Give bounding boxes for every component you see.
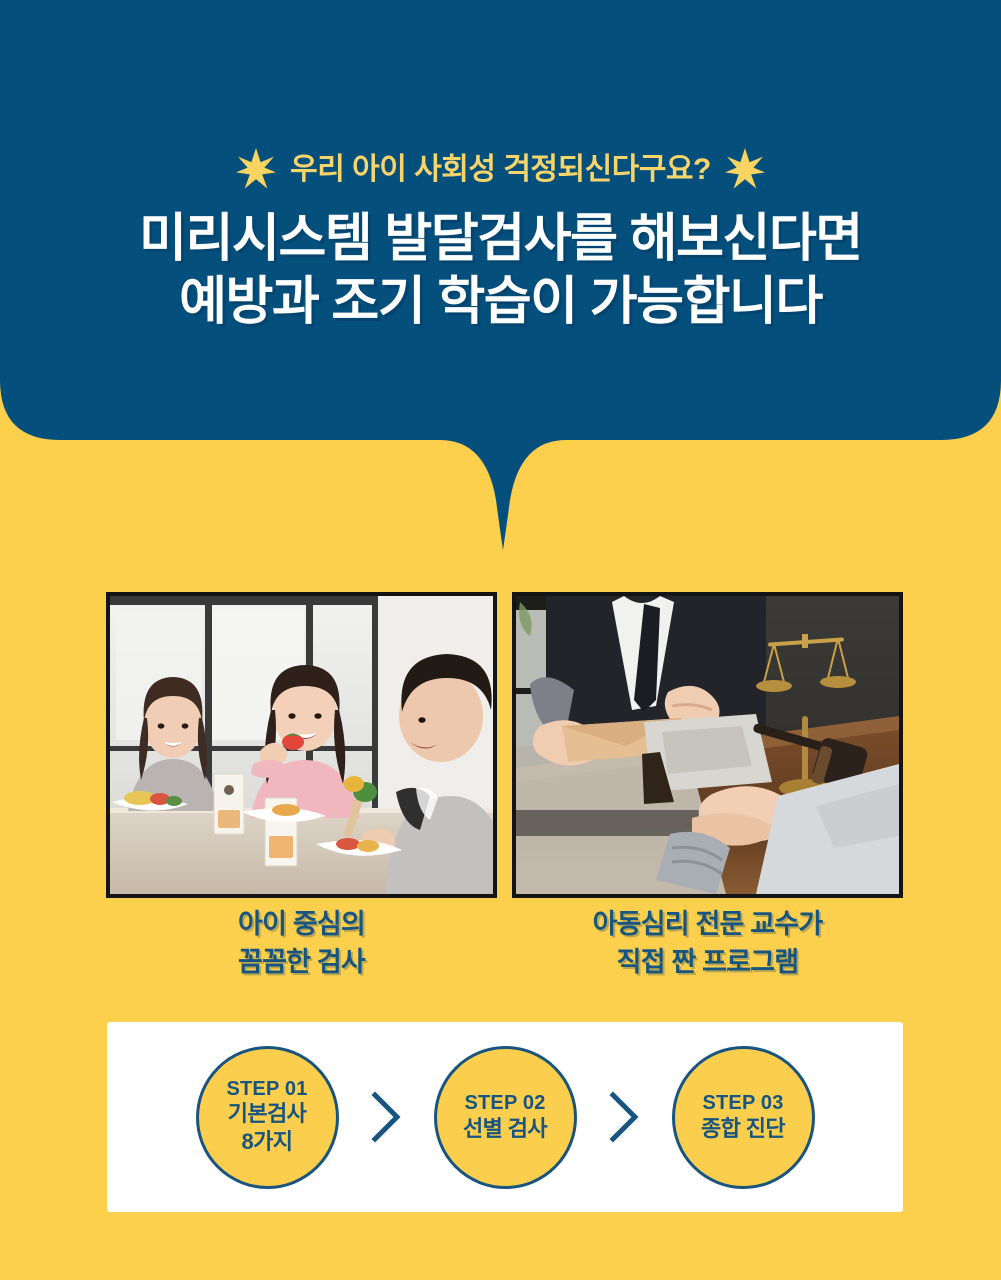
- hero-headline-line-2: 예방과 조기 학습이 가능합니다: [179, 271, 822, 334]
- caption-consultation-line-1: 아동심리 전문 교수가: [512, 906, 903, 944]
- photo-card-children: [106, 592, 497, 898]
- caption-children-line-1: 아이 중심의: [106, 906, 497, 944]
- caption-children-line-2: 꼼꼼한 검사: [106, 944, 497, 982]
- step-01-name: 기본검사: [228, 1101, 307, 1128]
- hero-headline-line-1: 미리시스템 발달검사를 해보신다면: [139, 208, 862, 271]
- step-02-label: STEP 02: [464, 1091, 545, 1115]
- photo-consultation-image: [516, 596, 899, 894]
- consultation-illustration: [516, 596, 899, 894]
- step-01-sub: 8가지: [242, 1128, 293, 1157]
- caption-consultation: 아동심리 전문 교수가 직접 짠 프로그램: [512, 906, 903, 1002]
- steps-row: STEP 01 기본검사 8가지 STEP 02 선별 검사 STEP 03: [196, 1046, 815, 1189]
- chevron-right-glyph: [369, 1091, 403, 1143]
- caption-children: 아이 중심의 꼼꼼한 검사: [106, 906, 497, 1002]
- photo-gallery: [106, 592, 903, 898]
- promo-page: 우리 아이 사회성 걱정되신다구요? 미리시스템 발달검사를 해보신다면 예방과…: [0, 0, 1001, 1280]
- step-circle-02[interactable]: STEP 02 선별 검사: [434, 1046, 577, 1189]
- sparkle-star-icon: [236, 148, 276, 192]
- photo-captions: 아이 중심의 꼼꼼한 검사 아동심리 전문 교수가 직접 짠 프로그램: [106, 906, 903, 1002]
- children-eating-illustration: [110, 596, 493, 894]
- chevron-right-icon: [577, 1091, 672, 1143]
- photo-card-consultation: [512, 592, 903, 898]
- step-circle-01[interactable]: STEP 01 기본검사 8가지: [196, 1046, 339, 1189]
- step-03-label: STEP 03: [702, 1091, 783, 1115]
- hero-eyebrow-row: 우리 아이 사회성 걱정되신다구요?: [236, 148, 765, 192]
- photo-children-image: [110, 596, 493, 894]
- hero-content: 우리 아이 사회성 걱정되신다구요? 미리시스템 발달검사를 해보신다면 예방과…: [0, 0, 1001, 440]
- step-02-name: 선별 검사: [463, 1116, 547, 1143]
- hero-eyebrow-text: 우리 아이 사회성 걱정되신다구요?: [290, 155, 711, 185]
- sparkle-star-icon: [725, 148, 765, 192]
- chevron-right-icon: [339, 1091, 434, 1143]
- hero-speech-bubble: 우리 아이 사회성 걱정되신다구요? 미리시스템 발달검사를 해보신다면 예방과…: [0, 0, 1001, 560]
- steps-panel: STEP 01 기본검사 8가지 STEP 02 선별 검사 STEP 03: [107, 1022, 903, 1212]
- caption-consultation-line-2: 직접 짠 프로그램: [512, 944, 903, 982]
- step-03-name: 종합 진단: [701, 1116, 785, 1143]
- step-01-label: STEP 01: [226, 1077, 307, 1101]
- step-circle-03[interactable]: STEP 03 종합 진단: [672, 1046, 815, 1189]
- chevron-right-glyph: [607, 1091, 641, 1143]
